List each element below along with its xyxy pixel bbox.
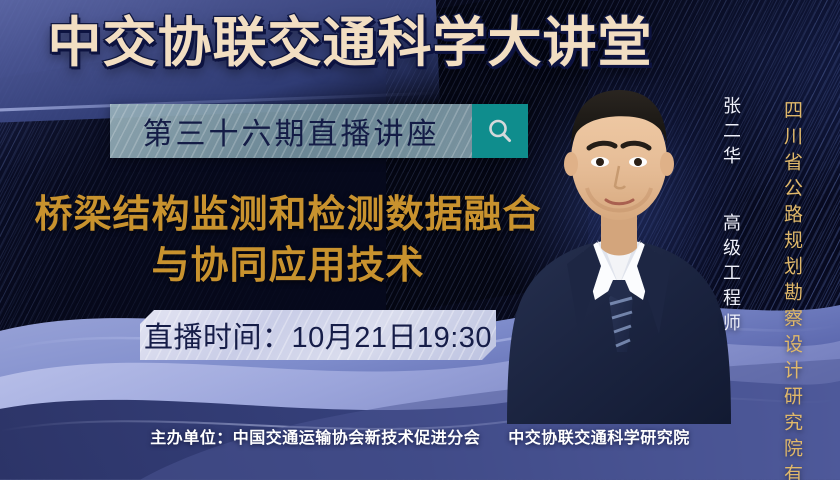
page-title: 中交协联交通科学大讲堂 <box>0 14 700 72</box>
footer-organizers: 主办单位：中国交通运输协会新技术促进分会中交协联交通科学研究院 <box>0 424 840 448</box>
search-button[interactable] <box>472 104 528 158</box>
episode-label: 第三十六期直播讲座 <box>143 109 440 153</box>
episode-field[interactable]: 第三十六期直播讲座 <box>110 104 472 158</box>
lecture-title: 桥梁结构监测和检测数据融合 与协同应用技术 <box>30 190 546 293</box>
broadcast-time-text: 直播时间：10月21日19:30 <box>144 314 492 356</box>
live-lecture-poster: 中交协联交通科学大讲堂 第三十六期直播讲座 桥梁结构监测和检测数据融合 与协同应… <box>0 0 840 480</box>
footer-organizer-1: 中国交通运输协会新技术促进分会 <box>233 430 481 447</box>
broadcast-time-banner: 直播时间：10月21日19:30 <box>140 310 496 360</box>
speaker-title: 高级工程师 <box>721 213 741 338</box>
lecture-title-line-1: 桥梁结构监测和检测数据融合 <box>34 194 541 236</box>
footer-prefix: 主办单位： <box>150 430 233 447</box>
search-icon <box>485 116 515 146</box>
footer-organizer-2: 中交协联交通科学研究院 <box>508 430 690 447</box>
episode-search-bar[interactable]: 第三十六期直播讲座 <box>110 104 528 158</box>
speaker-organization: 四川省公路规划勘察设计研究院有限公司 <box>778 100 805 480</box>
speaker-name: 张二华 <box>721 96 741 171</box>
lecture-title-line-2: 与协同应用技术 <box>30 241 546 292</box>
speaker-name-block: 张二华 高级工程师 <box>718 96 744 338</box>
